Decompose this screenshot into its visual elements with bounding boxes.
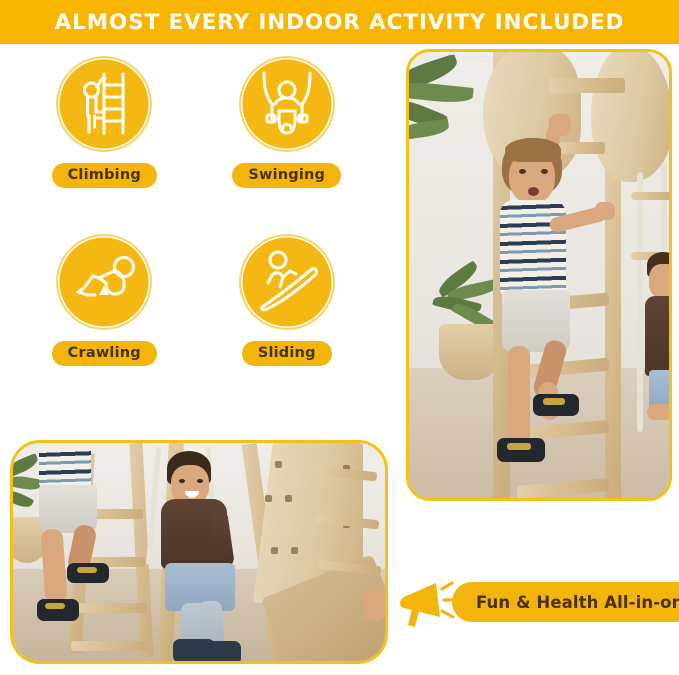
page-title: ALMOST EVERY INDOOR ACTIVITY INCLUDED [55, 10, 625, 35]
swing-seat-icon [239, 56, 335, 152]
fun-health-badge[interactable]: Fun & Health All-in-one [398, 572, 666, 636]
main-climbing-photo [406, 49, 672, 501]
feature-label-climbing: Climbing [52, 163, 157, 188]
bottom-photo-scene [13, 443, 385, 661]
badge-pill[interactable]: Fun & Health All-in-one [452, 582, 679, 622]
climbing-ladder-icon [56, 56, 152, 152]
feature-sliding[interactable]: Sliding [201, 234, 374, 406]
crawling-child-icon [56, 234, 152, 330]
feature-climbing[interactable]: Climbing [18, 56, 191, 228]
badge-label: Fun & Health All-in-one [476, 593, 679, 612]
feature-label-sliding: Sliding [242, 341, 332, 366]
feature-grid: Climbing [18, 56, 373, 406]
feature-crawling[interactable]: Crawling [18, 234, 191, 406]
megaphone-icon [398, 573, 460, 635]
header-banner: ALMOST EVERY INDOOR ACTIVITY INCLUDED [0, 0, 679, 44]
feature-label-crawling: Crawling [52, 341, 157, 366]
feature-label-swinging: Swinging [232, 163, 341, 188]
bottom-playset-photo [10, 440, 388, 664]
feature-swinging[interactable]: Swinging [201, 56, 374, 228]
main-photo-scene [409, 52, 669, 498]
sliding-child-icon [239, 234, 335, 330]
